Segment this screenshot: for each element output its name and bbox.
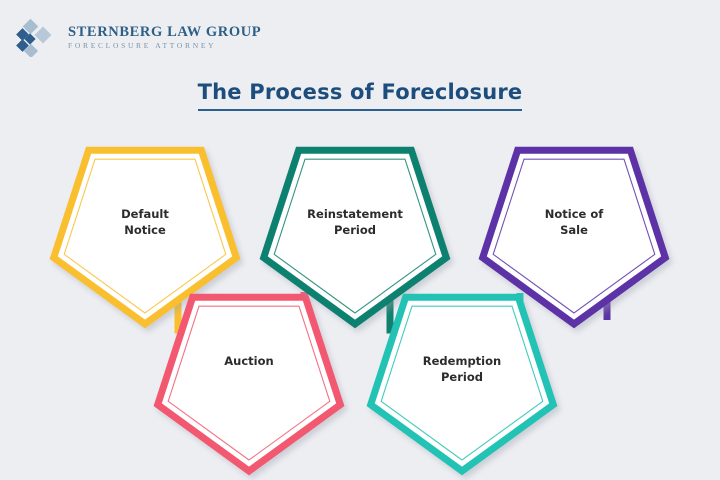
brand-logo-text: STERNBERG LAW GROUP FORECLOSURE ATTORNEY: [68, 25, 261, 50]
page-title: The Process of Foreclosure: [198, 80, 523, 111]
pentagon-node-auction[interactable]: [158, 297, 341, 471]
brand-logo[interactable]: STERNBERG LAW GROUP FORECLOSURE ATTORNEY: [14, 12, 264, 62]
infographic-canvas: STERNBERG LAW GROUP FORECLOSURE ATTORNEY…: [0, 0, 720, 480]
pentagon-layer: [54, 150, 666, 471]
brand-tagline: FORECLOSURE ATTORNEY: [68, 42, 261, 50]
pentagon-outer-auction: [158, 297, 341, 471]
diamond-cluster-icon: [14, 17, 60, 57]
pentagon-node-redemption-period[interactable]: [371, 297, 554, 471]
pentagon-outer-redemption-period: [371, 297, 554, 471]
brand-name: STERNBERG LAW GROUP: [68, 25, 261, 40]
page-title-container: The Process of Foreclosure: [0, 80, 720, 111]
process-flow-diagram: [0, 0, 720, 480]
